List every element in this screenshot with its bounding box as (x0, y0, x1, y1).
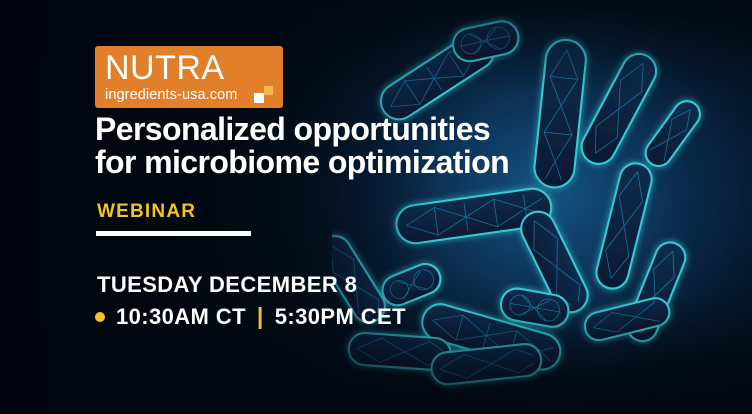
headline-line-2: for microbiome optimization (95, 146, 635, 179)
logo-wordmark: NUTRA (105, 50, 273, 86)
content-area: NUTRA ingredients-usa.com Personalized o… (95, 0, 695, 414)
time-separator: | (257, 303, 264, 330)
headline-line-1: Personalized opportunities (95, 113, 635, 146)
divider-rule (96, 231, 251, 236)
event-time-cet: 5:30PM CET (275, 304, 406, 330)
headline: Personalized opportunities for microbiom… (95, 113, 635, 179)
logo-domain: ingredients-usa.com (105, 86, 237, 104)
nutraingredients-logo[interactable]: NUTRA ingredients-usa.com (95, 46, 283, 108)
event-date: TUESDAY DECEMBER 8 (97, 272, 357, 298)
bullet-icon (95, 312, 105, 322)
event-time-ct: 10:30AM CT (116, 304, 246, 330)
webinar-label: WEBINAR (97, 201, 196, 223)
logo-squares-icon (253, 86, 273, 104)
logo-square-bottom-icon (254, 93, 264, 103)
logo-square-top-icon (264, 86, 273, 95)
event-times: 10:30AM CT | 5:30PM CET (95, 303, 406, 330)
webinar-promo-banner: NUTRA ingredients-usa.com Personalized o… (0, 0, 752, 414)
